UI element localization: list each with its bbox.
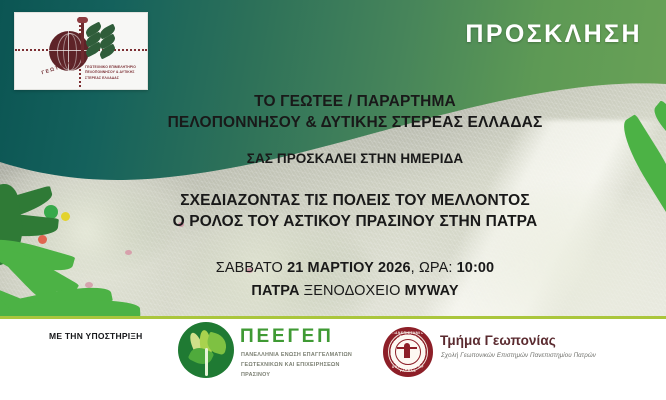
event-date: 21 ΜΑΡΤΙΟΥ 2026 (287, 260, 411, 276)
page-title: ΠΡΟΣΚΛΗΣΗ (465, 20, 642, 49)
geotee-subtitle: ΓΕΩΤΕΧΝΙΚΟ ΕΠΙΜΕΛΗΤΗΡΙΟ ΠΕΛΟΠΟΝΝΗΣΟΥ & Δ… (85, 65, 143, 81)
event-time: 10:00 (457, 260, 495, 276)
logo-stem (81, 19, 84, 63)
organizer-line-2: ΠΕΛΟΠΟΝΝΗΣΟΥ & ΔΥΤΙΚΗΣ ΣΤΕΡΕΑΣ ΕΛΛΑΔΑΣ (88, 113, 622, 134)
venue-name: MYWAY (405, 283, 459, 299)
event-time-label: ΩΡΑ: (419, 260, 457, 276)
topic-line-2: Ο ΡΟΛΟΣ ΤΟΥ ΑΣΤΙΚΟΥ ΠΡΑΣΙΝΟΥ ΣΤΗΝ ΠΑΤΡΑ (88, 211, 622, 232)
invitation-copy: ΤΟ ΓΕΩΤΕΕ / ΠΑΡΑΡΤΗΜΑ ΠΕΛΟΠΟΝΝΗΣΟΥ & ΔΥΤ… (88, 92, 622, 301)
event-day: ΣΑΒΒΑΤΟ (216, 260, 287, 276)
seal-figure (404, 343, 410, 358)
invitation-poster: ΠΡΟΣΚΛΗΣΗ ΓΕΩΤ.Ε.Ε. ΓΕΩΤΕΧΝΙΚΟ ΕΠΙΜΕΛΗΤΗ… (0, 0, 666, 400)
peegep-subtitle: ΠΑΝΕΛΛΗΝΙΑ ΕΝΩΣΗ ΕΠΑΓΓΕΛΜΑΤΙΩΝ ΓΕΩΤΕΧΝΙΚ… (241, 350, 359, 380)
event-datetime: ΣΑΒΒΑΤΟ 21 ΜΑΡΤΙΟΥ 2026, ΩΡΑ: 10:00 (88, 258, 622, 279)
topic-line-1: ΣΧΕΔΙΑΖΟΝΤΑΣ ΤΙΣ ΠΟΛΕΙΣ ΤΟΥ ΜΕΛΛΟΝΤΟΣ (88, 190, 622, 211)
seal-figure-arms (397, 347, 417, 349)
support-label: ΜΕ ΤΗΝ ΥΠΟΣΤΗΡΙΞΗ (49, 331, 143, 341)
peegep-logo-icon (178, 322, 234, 378)
venue-city: ΠΑΤΡΑ (251, 283, 303, 299)
department-name: Τμήμα Γεωπονίας (440, 333, 556, 348)
event-separator: , (411, 260, 419, 276)
footer-divider (0, 316, 666, 319)
peegep-stem (205, 348, 208, 376)
venue-type: ΞΕΝΟΔΟΧΕΙΟ (304, 283, 405, 299)
flower-dot-yellow (61, 212, 70, 221)
logo-stem-cap (77, 17, 88, 23)
organizer-line-1: ΤΟ ΓΕΩΤΕΕ / ΠΑΡΑΡΤΗΜΑ (88, 92, 622, 113)
peegep-name: ΠΕΕΓΕΠ (240, 326, 334, 348)
event-venue: ΠΑΤΡΑ ΞΕΝΟΔΟΧΕΙΟ MYWAY (88, 281, 622, 302)
invitation-line: ΣΑΣ ΠΡΟΣΚΑΛΕΙ ΣΤΗΝ ΗΜΕΡΙΔΑ (88, 151, 622, 166)
flower-dot-red (38, 235, 47, 244)
university-seal-icon: ΠΑΝΕΠΙΣΤΗΜΙΟ ΠΑΤΡΩΝ UNIVERSITY OF PATRAS (383, 327, 433, 377)
school-name: Σχολή Γεωπονικών Επιστημών Πανεπιστημίου… (441, 352, 596, 359)
geotee-logo: ΓΕΩΤ.Ε.Ε. ΓΕΩΤΕΧΝΙΚΟ ΕΠΙΜΕΛΗΤΗΡΙΟ ΠΕΛΟΠΟ… (14, 12, 148, 90)
